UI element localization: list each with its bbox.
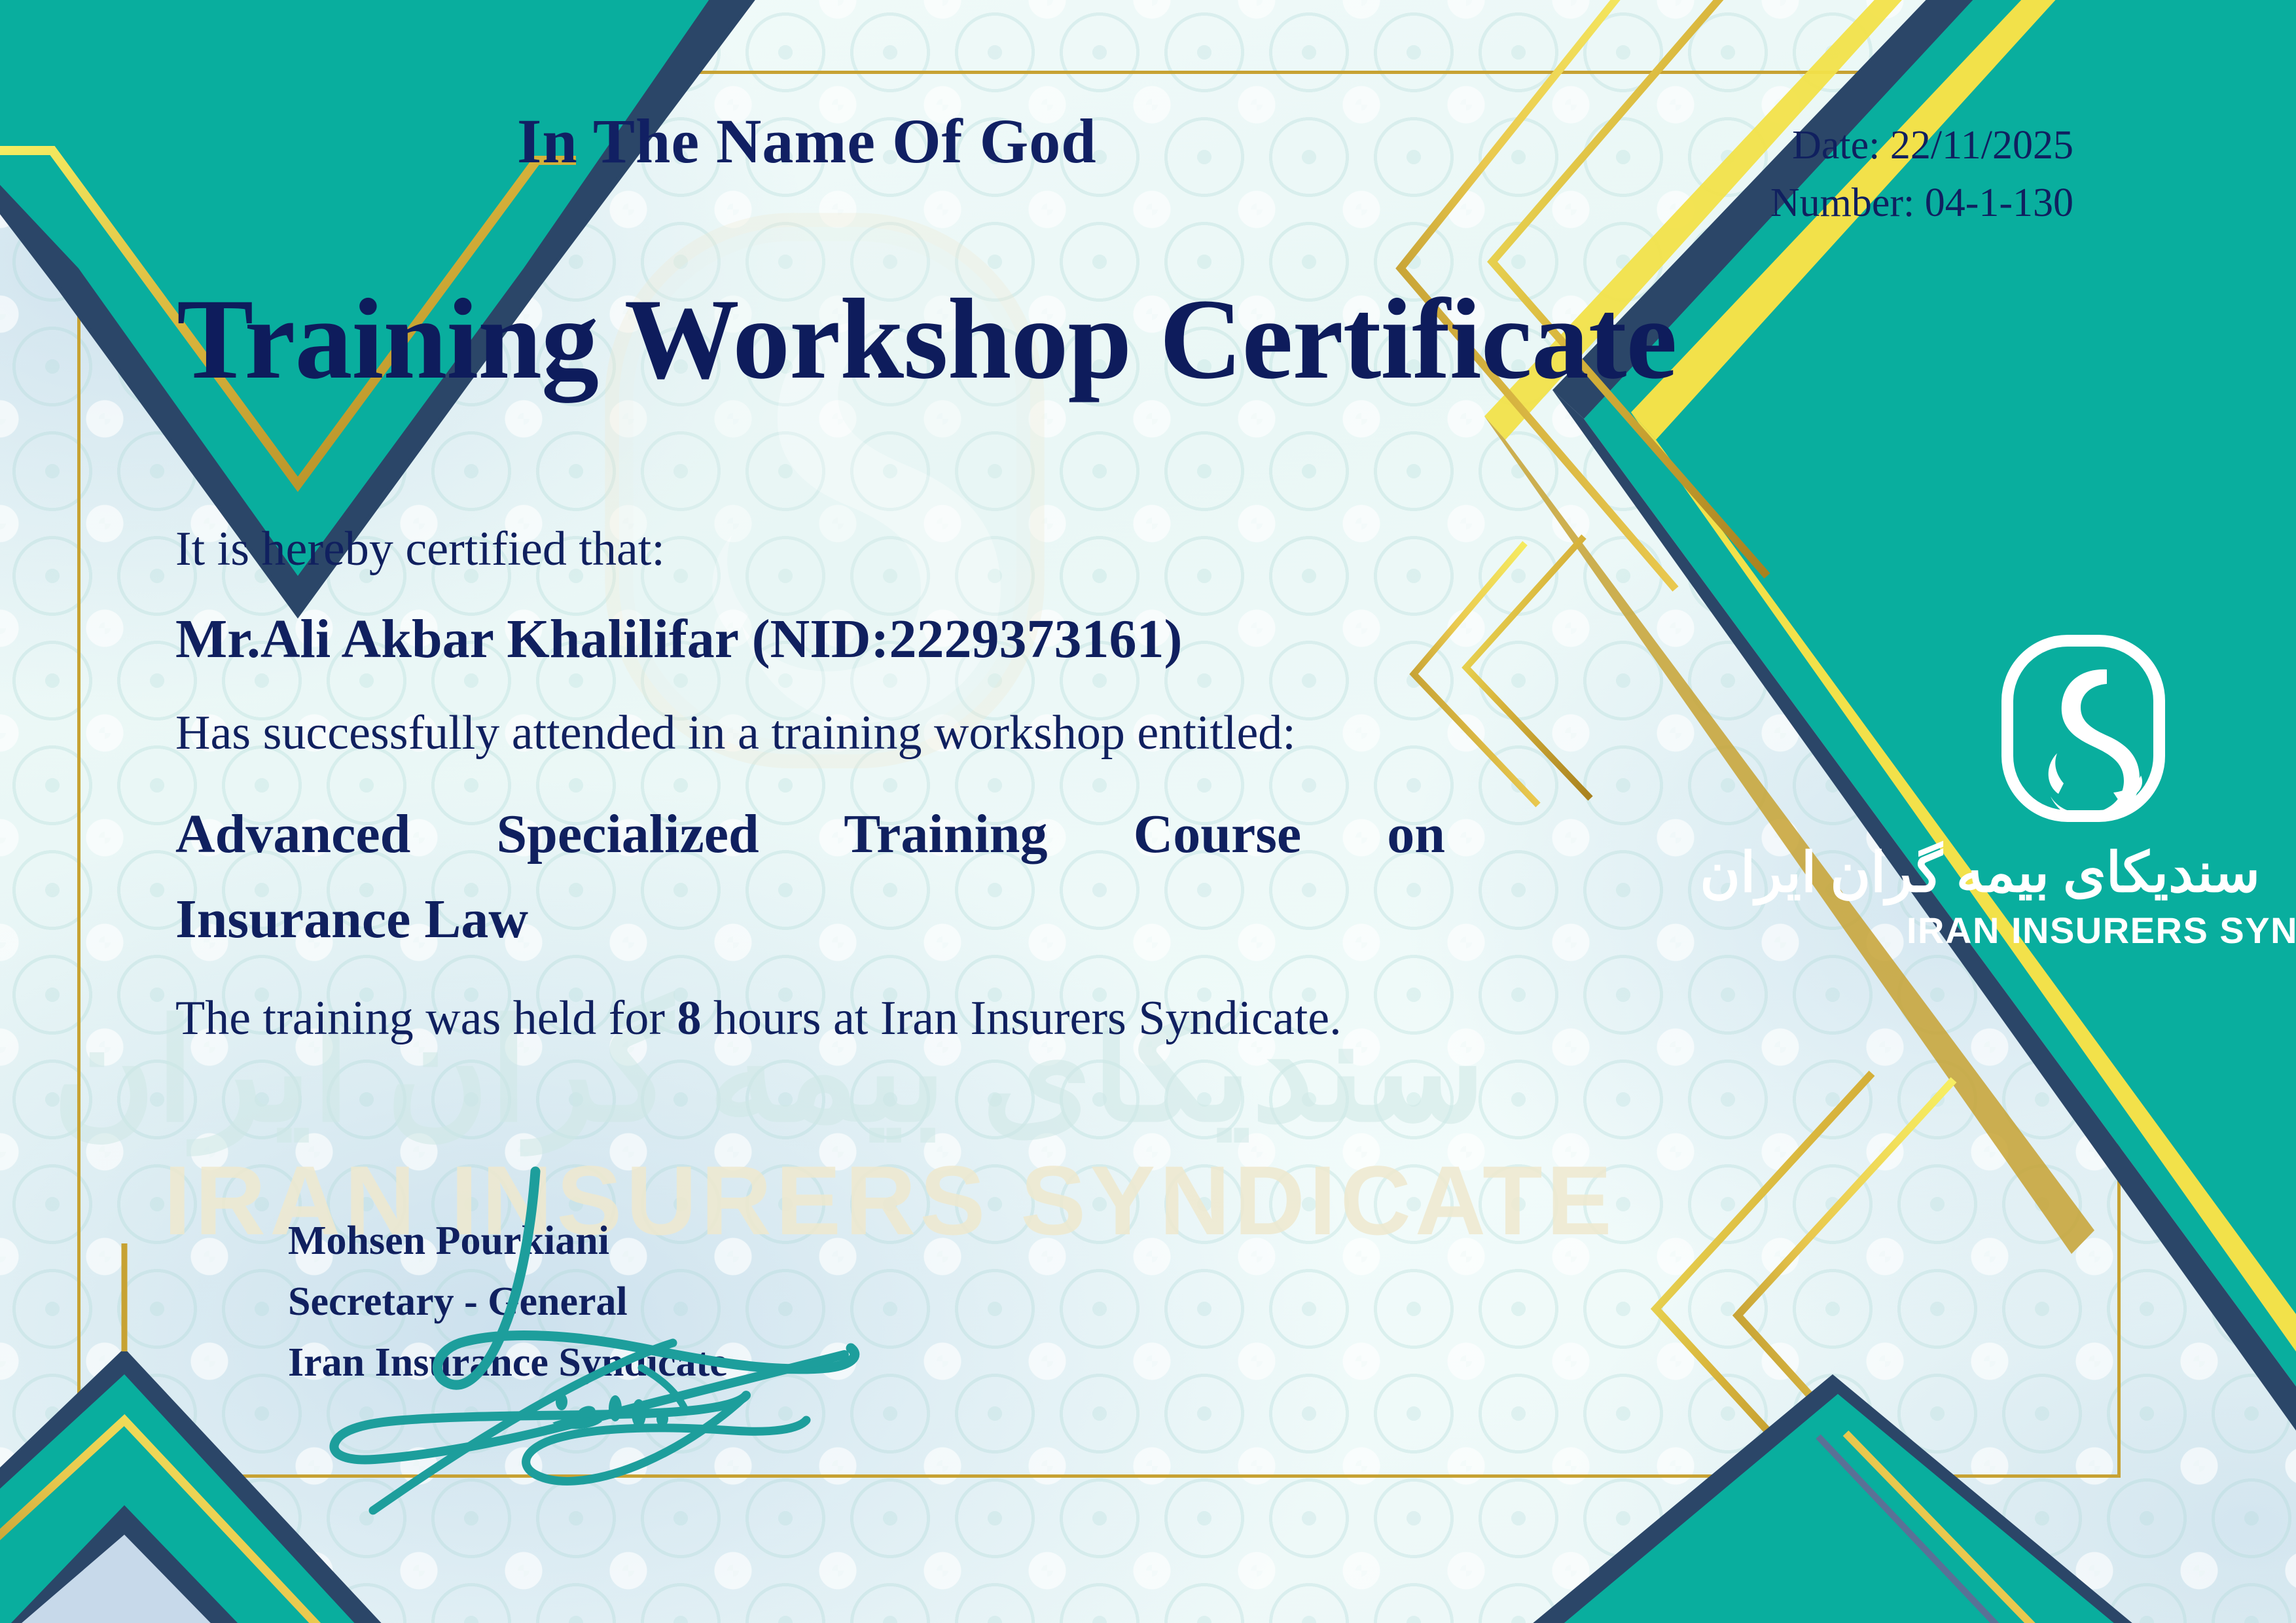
signatory-name: Mohsen Pourkiani (288, 1211, 728, 1272)
recipient-name: Mr.Ali Akbar Khalilifar (NID:2229373161) (175, 610, 1445, 669)
page-title: Training Workshop Certificate (177, 274, 1677, 406)
attended-line: Has successfully attended in a training … (175, 707, 1445, 760)
logo-english-name: IRAN INSURERS SYNDICATE (1907, 909, 2260, 952)
signatory-organization: Iran Insurance Syndicate (288, 1332, 728, 1393)
syndicate-logo-icon (1985, 632, 2181, 828)
bismillah-heading: In The Name Of God (517, 105, 1097, 177)
certificate-date: Date: 22/11/2025 (1770, 116, 2073, 174)
course-title-line-2: Insurance Law (175, 879, 1445, 960)
hours-value: 8 (677, 991, 702, 1045)
hours-suffix: hours at Iran Insurers Syndicate. (702, 991, 1342, 1045)
bottom-right-teal-triangle (1486, 1374, 2179, 1623)
certificate-number: Number: 04-1-130 (1770, 174, 2073, 232)
bottom-left-small-wedge (1590, 1453, 1806, 1623)
bottom-right-gold-chevrons (1656, 1073, 1954, 1554)
training-hours-line: The training was held for 8 hours at Ira… (175, 993, 1445, 1045)
certificate-page: سندیکای بیمه گران ایران IRAN INSURERS SY… (0, 0, 2296, 1623)
course-title-line-1: Advanced Specialized Training Course on (175, 794, 1445, 875)
hours-prefix: The training was held for (175, 991, 677, 1045)
syndicate-logo-lockup: سندیکای بیمه گران ایران IRAN INSURERS SY… (1907, 632, 2260, 952)
certify-line: It is hereby certified that: (175, 524, 1445, 576)
certificate-meta: Date: 22/11/2025 Number: 04-1-130 (1770, 116, 2073, 232)
logo-persian-name: سندیکای بیمه گران ایران (1907, 845, 2260, 902)
certificate-body: It is hereby certified that: Mr.Ali Akba… (175, 524, 1445, 1045)
signature-block: Mohsen Pourkiani Secretary - General Ira… (288, 1211, 728, 1393)
signatory-role: Secretary - General (288, 1272, 728, 1332)
